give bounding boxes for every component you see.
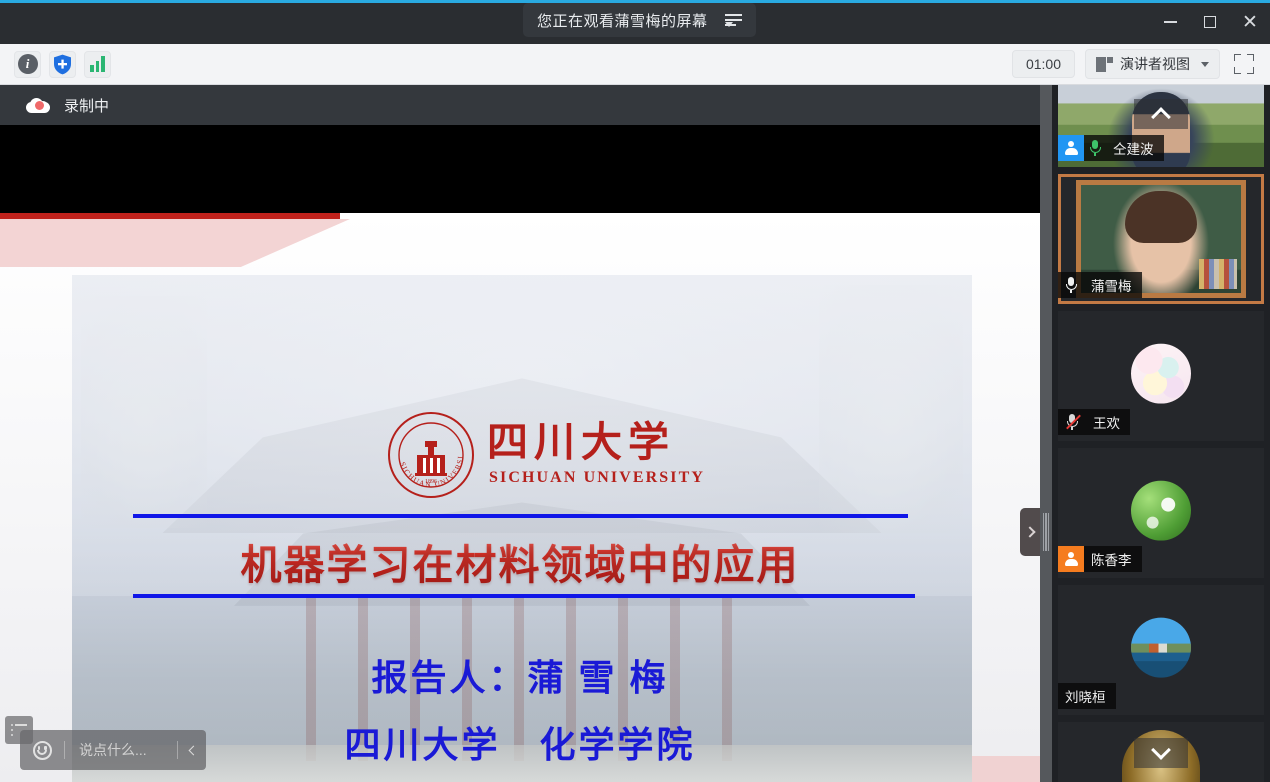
- mic-muted-icon: [1066, 414, 1079, 430]
- emoji-smile-icon: [33, 741, 52, 760]
- chat-collapse-button[interactable]: [178, 747, 206, 754]
- info-button[interactable]: i: [14, 51, 41, 78]
- security-button[interactable]: [49, 51, 76, 78]
- avatar: [1131, 618, 1191, 678]
- chevron-down-icon: [1201, 62, 1209, 67]
- meeting-timer: 01:00: [1012, 50, 1075, 78]
- participant-badge: 仝建波: [1058, 135, 1164, 161]
- title-bar: 您正在观看蒲雪梅的屏幕 ✕: [0, 0, 1270, 44]
- chat-input-bar[interactable]: 说点什么...: [20, 730, 206, 770]
- chat-input[interactable]: 说点什么...: [65, 740, 177, 760]
- list-icon: [11, 724, 27, 736]
- participant-tile-3[interactable]: 王欢: [1058, 311, 1264, 441]
- slide-title: 机器学习在材料领域中的应用: [0, 531, 1040, 591]
- participant-sidebar: 仝建波 蒲雪梅 王欢 陈香李: [1052, 85, 1270, 782]
- chevron-left-icon: [189, 745, 199, 755]
- slide-pink-corner-top: [0, 219, 350, 267]
- minimize-button[interactable]: [1150, 0, 1190, 44]
- sidebar-scroll-up[interactable]: [1134, 99, 1188, 129]
- signal-bars-icon: [90, 56, 105, 72]
- meeting-window: 您正在观看蒲雪梅的屏幕 ✕ i: [0, 0, 1270, 782]
- person-blue-icon: [1058, 135, 1084, 161]
- network-status-button[interactable]: [84, 51, 111, 78]
- chevron-up-icon: [1151, 107, 1171, 127]
- avatar: [1131, 481, 1191, 541]
- participant-badge: 陈香李: [1058, 546, 1142, 572]
- divider-grip: [1043, 513, 1049, 551]
- presentation-slide: 1896 SICHUAN UNIVERSITY 四川大学 SICHUAN UNI…: [0, 213, 1040, 782]
- shield-plus-icon: [53, 54, 72, 75]
- participant-tile-5[interactable]: 刘晓桓: [1058, 585, 1264, 715]
- maximize-button[interactable]: [1190, 0, 1230, 44]
- panel-divider[interactable]: [1040, 85, 1052, 782]
- mic-unmuted-icon: [1089, 140, 1102, 156]
- screen-black-band: [0, 125, 1040, 210]
- fullscreen-button[interactable]: [1230, 50, 1258, 78]
- slide-background-photo: [72, 275, 972, 782]
- avatar: [1131, 344, 1191, 404]
- window-controls: ✕: [1150, 0, 1270, 44]
- shared-screen-area[interactable]: 录制中: [0, 85, 1040, 782]
- mic-unmuted-icon: [1065, 277, 1078, 293]
- speaker-view-icon: [1096, 57, 1113, 72]
- sidebar-collapse-handle[interactable]: [1020, 508, 1040, 556]
- participant-name: 蒲雪梅: [1084, 275, 1132, 295]
- participant-name: 王欢: [1086, 412, 1120, 432]
- participant-name: 仝建波: [1106, 138, 1154, 158]
- list-menu-icon: [725, 14, 742, 27]
- toolbar-right-group: 01:00 演讲者视图: [1012, 49, 1270, 79]
- sidebar-scroll-down[interactable]: [1134, 738, 1188, 768]
- cloud-record-icon: [26, 98, 50, 113]
- participant-badge: 王欢: [1058, 409, 1130, 435]
- share-menu-button[interactable]: [718, 6, 750, 34]
- screen-share-banner: 您正在观看蒲雪梅的屏幕: [523, 3, 756, 37]
- participants-list-toggle[interactable]: [5, 716, 33, 744]
- view-mode-label: 演讲者视图: [1120, 54, 1190, 74]
- chevron-right-icon: [1024, 526, 1035, 537]
- maximize-icon: [1204, 16, 1216, 28]
- view-mode-selector[interactable]: 演讲者视图: [1085, 49, 1220, 79]
- recording-bar: 录制中: [0, 85, 1040, 125]
- recording-label: 录制中: [64, 95, 109, 116]
- participant-tile-2[interactable]: 蒲雪梅: [1058, 174, 1264, 304]
- slide-rule-top: [133, 514, 908, 518]
- sichuan-university-logo: 1896 SICHUAN UNIVERSITY: [387, 411, 475, 499]
- university-name-cn: 四川大学: [487, 419, 675, 465]
- info-icon: i: [18, 54, 38, 74]
- person-orange-icon: [1058, 546, 1084, 572]
- participant-name: 陈香李: [1084, 549, 1132, 569]
- participant-tile-4[interactable]: 陈香李: [1058, 448, 1264, 578]
- minimize-icon: [1164, 21, 1177, 23]
- screen-share-title: 您正在观看蒲雪梅的屏幕: [537, 10, 718, 31]
- participant-name: 刘晓桓: [1058, 686, 1106, 706]
- participant-badge: 刘晓桓: [1058, 683, 1116, 709]
- slide-rule-bottom: [133, 594, 915, 598]
- university-name-en: SICHUAN UNIVERSITY: [489, 469, 705, 487]
- slide-presenter: 报告人：蒲 雪 梅: [0, 649, 1040, 701]
- fullscreen-icon: [1234, 54, 1241, 61]
- close-button[interactable]: ✕: [1230, 0, 1270, 44]
- close-icon: ✕: [1242, 13, 1258, 32]
- participant-badge: 蒲雪梅: [1058, 272, 1142, 298]
- chevron-down-icon: [1151, 740, 1171, 760]
- toolbar-left-group: i: [0, 51, 111, 78]
- meeting-toolbar: i 01:00 演讲者视图: [0, 44, 1270, 85]
